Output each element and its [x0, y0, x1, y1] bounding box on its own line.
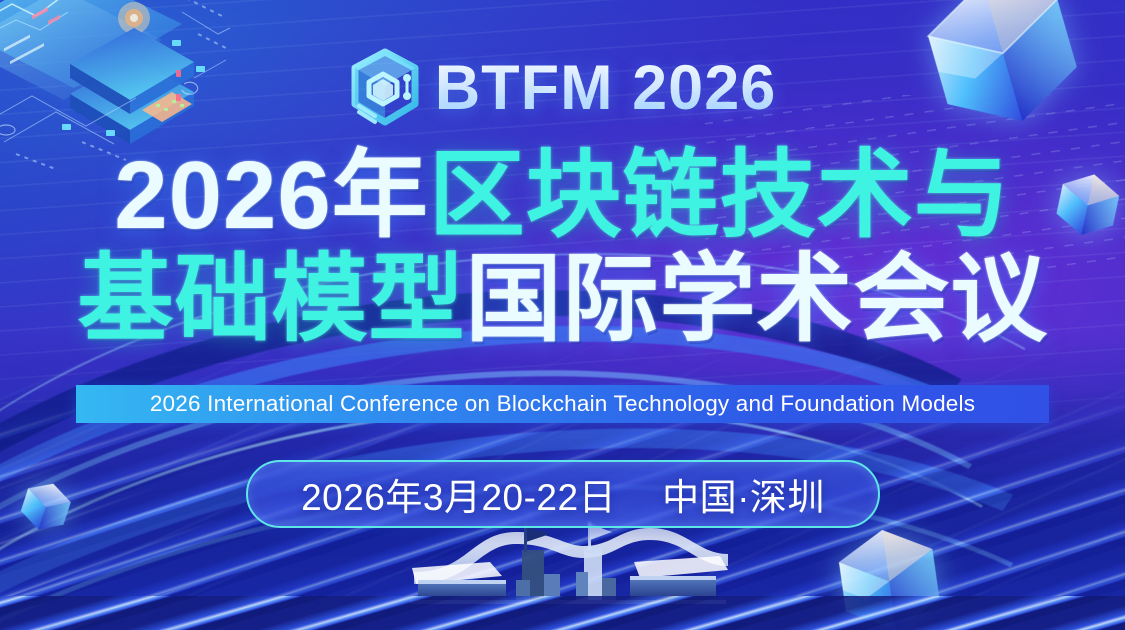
date-location-pill: 2026年3月20-22日 中国·深圳	[246, 460, 880, 528]
page-title-line-1: 2026年区块链技术与	[0, 148, 1125, 244]
hexagon-cube-icon	[349, 48, 421, 128]
english-subtitle-bar: 2026 International Conference on Blockch…	[76, 385, 1049, 423]
title-line1-white: 2026年	[114, 142, 429, 249]
banner-content: BTFM 2026 2026年区块链技术与 基础模型国际学术会议 2026 In…	[0, 0, 1125, 630]
conference-date: 2026年3月20-22日	[301, 467, 616, 521]
conference-banner: BTFM 2026 2026年区块链技术与 基础模型国际学术会议 2026 In…	[0, 0, 1125, 630]
logo-text: BTFM 2026	[435, 57, 777, 120]
title-line1-cyan: 区块链技术与	[429, 142, 1011, 249]
logo-row: BTFM 2026	[0, 48, 1125, 128]
english-subtitle: 2026 International Conference on Blockch…	[150, 391, 975, 417]
title-line2-white: 国际学术会议	[466, 246, 1048, 353]
bottom-edge-streaks	[0, 596, 1125, 630]
page-title-line-2: 基础模型国际学术会议	[0, 252, 1125, 348]
title-line2-cyan: 基础模型	[78, 246, 466, 353]
conference-location: 中国·深圳	[662, 467, 825, 521]
